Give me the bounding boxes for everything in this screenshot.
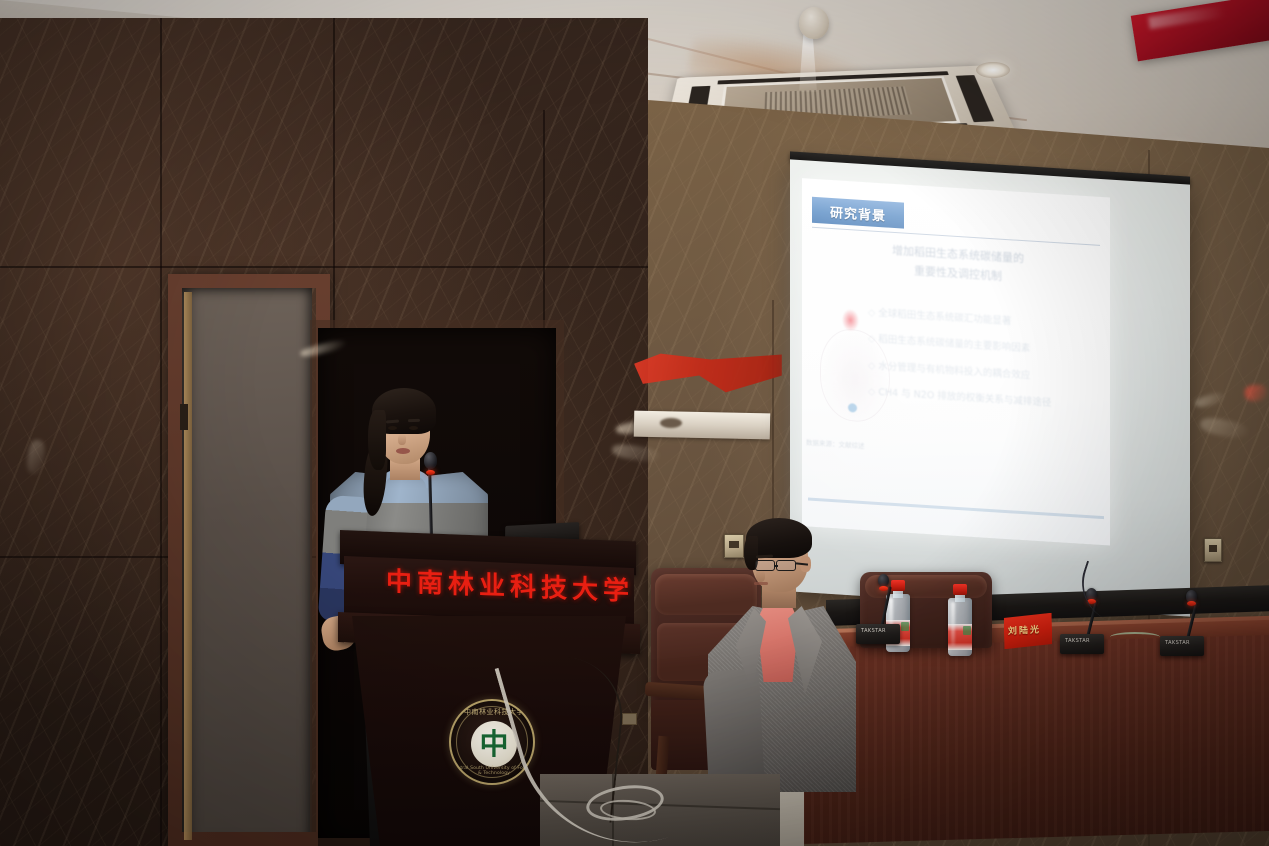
projected-slide: 研究背景 增加稻田生态系统碳储量的 重要性及调控机制 全球稻田生态系统碳汇功能显… <box>802 178 1110 545</box>
photo-scene: 研究背景 增加稻田生态系统碳储量的 重要性及调控机制 全球稻田生态系统碳汇功能显… <box>0 0 1269 846</box>
eyeglasses-bridge <box>774 565 778 567</box>
emblem-english-text: Central South University of Forestry & T… <box>451 766 535 776</box>
man-nose <box>756 570 765 582</box>
man-mouth <box>754 582 768 585</box>
wall-strip-mark <box>660 418 682 428</box>
mic-base: TAKSTAR <box>1160 636 1204 656</box>
mic-indicator-ring <box>1187 601 1196 606</box>
green-cable <box>1110 632 1160 642</box>
slide-footer-rule <box>808 498 1104 520</box>
ac-vent-right <box>955 75 993 122</box>
wall-outlet-icon <box>1204 538 1222 562</box>
emblem-center: 中 <box>471 721 517 767</box>
slide-heading: 增加稻田生态系统碳储量的 重要性及调控机制 <box>838 238 1078 290</box>
mic-brand-label: TAKSTAR <box>1165 640 1190 646</box>
slide-bullet-list: 全球稻田生态系统碳汇功能显著 稻田生态系统碳储量的主要影响因素 水分管理与有机物… <box>868 302 1096 422</box>
wall-panel-seam <box>160 18 162 846</box>
conference-microphone: TAKSTAR <box>856 572 916 638</box>
podium-mic-indicator-ring <box>426 470 435 475</box>
white-wall-strip <box>634 411 771 440</box>
wall-light-reflection <box>1244 384 1267 401</box>
mic-indicator-ring <box>879 586 888 591</box>
podium-mic-head <box>424 452 437 469</box>
ceiling-downlight <box>976 62 1010 78</box>
mic-brand-label: TAKSTAR <box>1065 638 1090 644</box>
door-hinge-icon <box>180 404 188 430</box>
bottle-label-accent <box>963 626 971 635</box>
doorway-frame <box>168 274 330 846</box>
slide-title-text: 研究背景 <box>830 201 886 224</box>
slide-title-banner: 研究背景 <box>812 197 904 229</box>
smoke-detector-icon <box>799 7 829 39</box>
bottle-cap <box>953 584 967 595</box>
bottle-highlight <box>951 602 955 646</box>
speaker-eye-left <box>388 426 397 430</box>
speaker-hair-side <box>368 410 386 470</box>
speaker-mouth <box>396 448 410 454</box>
name-card-text: 刘陆光 <box>1008 622 1041 637</box>
water-bottle <box>948 584 972 656</box>
emblem-glyph-icon: 中 <box>471 721 517 767</box>
eyeglasses-lens-right <box>776 560 796 571</box>
speaker-eyebrow-right <box>408 419 420 422</box>
speaker-eye-right <box>409 426 418 430</box>
mic-base: TAKSTAR <box>1060 634 1104 654</box>
slide-source-note: 数据来源：文献综述 <box>806 436 878 451</box>
mic-brand-label: TAKSTAR <box>861 628 886 634</box>
slide-map-marker <box>848 403 857 413</box>
wall-panel-seam <box>0 266 648 268</box>
slide-map-highlight <box>842 309 859 332</box>
speaker-nose <box>398 434 406 445</box>
red-name-card: 刘陆光 <box>1004 613 1053 649</box>
door-jamb <box>184 292 192 840</box>
mic-base: TAKSTAR <box>856 624 900 644</box>
conference-microphone: TAKSTAR <box>1160 588 1222 650</box>
